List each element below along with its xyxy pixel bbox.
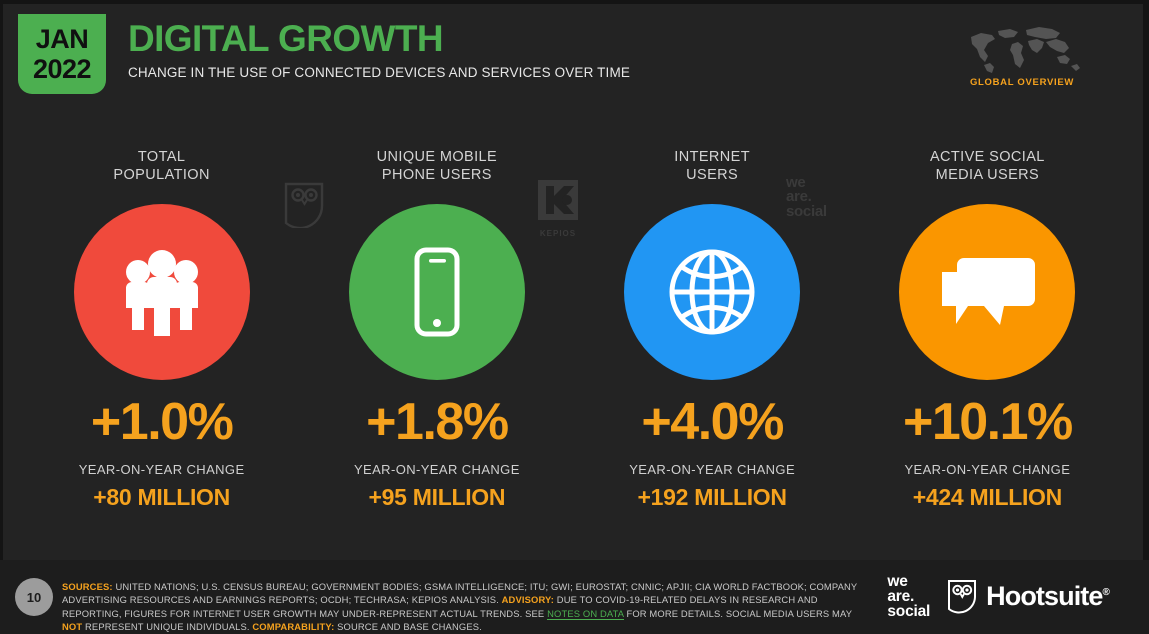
stat-column-mobile-users: UNIQUE MOBILE PHONE USERS +1.8% YEAR-ON-… — [299, 148, 574, 511]
slide: JAN 2022 DIGITAL GROWTH CHANGE IN THE US… — [0, 0, 1149, 634]
stat-column-total-population: TOTAL POPULATION +1.0% YEAR-ON-YEAR CHAN… — [24, 148, 299, 511]
comparability-text: SOURCE AND BASE CHANGES. — [334, 621, 482, 632]
globe-icon — [658, 238, 766, 346]
brand-logos: we are. social Hootsuite® — [887, 574, 1109, 620]
stat-change-label: YEAR-ON-YEAR CHANGE — [24, 462, 299, 477]
mobile-phone-icon — [385, 240, 489, 344]
stat-heading: UNIQUE MOBILE PHONE USERS — [299, 148, 574, 186]
region-indicator: GLOBAL OVERVIEW — [947, 22, 1097, 88]
slide-edge-right — [1143, 0, 1149, 634]
notes-after-text: FOR MORE DETAILS. SOCIAL MEDIA USERS MAY — [624, 608, 852, 619]
stat-icon-circle — [349, 204, 525, 380]
comparability-label: COMPARABILITY: — [252, 621, 334, 632]
page-subtitle: CHANGE IN THE USE OF CONNECTED DEVICES A… — [128, 65, 630, 80]
not-after-text: REPRESENT UNIQUE INDIVIDUALS. — [82, 621, 252, 632]
stat-icon-circle — [624, 204, 800, 380]
title-block: DIGITAL GROWTH CHANGE IN THE USE OF CONN… — [128, 20, 630, 80]
stat-icon-circle — [899, 204, 1075, 380]
region-label: GLOBAL OVERVIEW — [947, 77, 1097, 88]
registered-mark: ® — [1103, 587, 1109, 598]
not-emphasis: NOT — [62, 621, 82, 632]
stat-change-label: YEAR-ON-YEAR CHANGE — [850, 462, 1125, 477]
advisory-label: ADVISORY: — [502, 594, 554, 605]
slide-footer: 10 SOURCES: UNITED NATIONS; U.S. CENSUS … — [0, 560, 1149, 634]
stat-heading: TOTAL POPULATION — [24, 148, 299, 186]
speech-bubbles-icon — [934, 239, 1040, 345]
stat-column-internet-users: INTERNET USERS +4.0% YEAR-ON-YEAR CHANGE… — [575, 148, 850, 511]
stat-absolute-value: +424 MILLION — [850, 484, 1125, 511]
slide-header: JAN 2022 DIGITAL GROWTH CHANGE IN THE US… — [18, 14, 1131, 106]
stat-absolute-value: +192 MILLION — [575, 484, 850, 511]
date-badge-year: 2022 — [33, 56, 91, 83]
slide-edge-left — [0, 0, 3, 634]
stat-percent: +1.0% — [24, 396, 299, 448]
hootsuite-wordmark: Hootsuite® — [986, 581, 1109, 612]
stat-change-label: YEAR-ON-YEAR CHANGE — [299, 462, 574, 477]
sources-label: SOURCES: — [62, 581, 113, 592]
stat-percent: +1.8% — [299, 396, 574, 448]
we-are-social-logo: we are. social — [887, 574, 930, 620]
stat-absolute-value: +95 MILLION — [299, 484, 574, 511]
sources-note: SOURCES: UNITED NATIONS; U.S. CENSUS BUR… — [62, 580, 862, 633]
stat-icon-circle — [74, 204, 250, 380]
stat-percent: +10.1% — [850, 396, 1125, 448]
stat-absolute-value: +80 MILLION — [24, 484, 299, 511]
date-badge: JAN 2022 — [18, 14, 106, 94]
stat-percent: +4.0% — [575, 396, 850, 448]
stat-heading: INTERNET USERS — [575, 148, 850, 186]
slide-edge-top — [0, 0, 1149, 4]
page-title: DIGITAL GROWTH — [128, 20, 630, 59]
stat-column-social-media-users: ACTIVE SOCIAL MEDIA USERS +10.1% YEAR-ON… — [850, 148, 1125, 511]
world-map-icon — [962, 22, 1082, 74]
stat-change-label: YEAR-ON-YEAR CHANGE — [575, 462, 850, 477]
notes-on-data-link[interactable]: NOTES ON DATA — [547, 608, 624, 620]
page-number-badge: 10 — [15, 578, 53, 616]
hootsuite-owl-icon — [947, 579, 977, 615]
hootsuite-name-text: Hootsuite — [986, 581, 1102, 611]
date-badge-month: JAN — [36, 26, 89, 53]
hootsuite-logo: Hootsuite® — [947, 579, 1109, 615]
stats-row: TOTAL POPULATION +1.0% YEAR-ON-YEAR CHAN… — [24, 148, 1125, 511]
stat-heading: ACTIVE SOCIAL MEDIA USERS — [850, 148, 1125, 186]
people-icon — [110, 240, 214, 344]
